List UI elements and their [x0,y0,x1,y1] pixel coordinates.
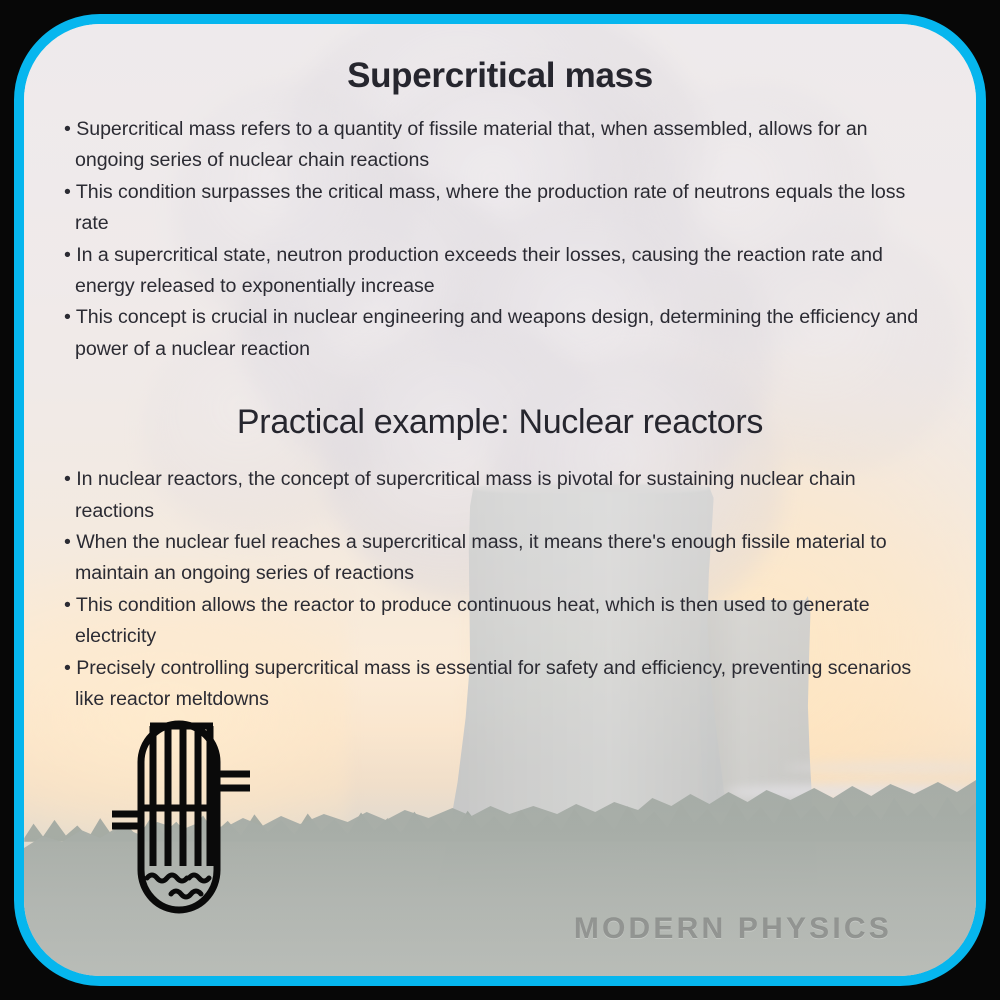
watermark-brand: MODERN PHYSICS [574,912,892,946]
bullet-item: • This concept is crucial in nuclear eng… [64,302,936,365]
bullet-list-primary: • Supercritical mass refers to a quantit… [52,114,948,365]
bullet-item: • Precisely controlling supercritical ma… [64,653,936,716]
bullet-item: • This condition allows the reactor to p… [64,590,936,653]
slide-canvas: Supercritical mass • Supercritical mass … [0,0,1000,1000]
section-title: Practical example: Nuclear reactors [52,403,948,442]
slide-frame: Supercritical mass • Supercritical mass … [14,14,986,986]
page-title: Supercritical mass [52,56,948,96]
bullet-list-secondary: • In nuclear reactors, the concept of su… [52,464,948,715]
nuclear-reactor-vessel-icon [110,718,280,930]
bullet-item: • When the nuclear fuel reaches a superc… [64,527,936,590]
bullet-item: • Supercritical mass refers to a quantit… [64,114,936,177]
bullet-item: • This condition surpasses the critical … [64,177,936,240]
bullet-item: • In a supercritical state, neutron prod… [64,240,936,303]
bullet-item: • In nuclear reactors, the concept of su… [64,464,936,527]
